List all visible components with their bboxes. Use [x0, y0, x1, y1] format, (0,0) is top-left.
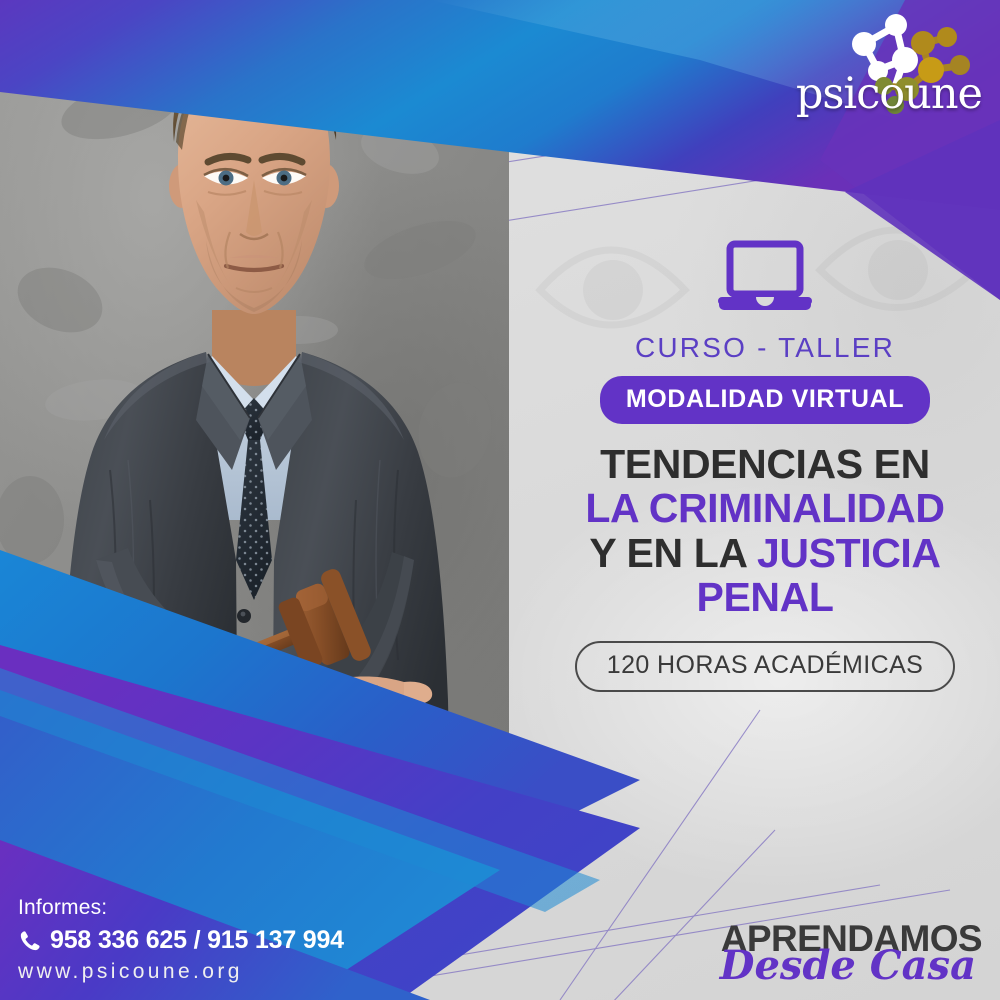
phone-numbers: 958 336 625 / 915 137 994: [50, 926, 344, 955]
poster-canvas: psicoune CURSO - TALLER MODALIDAD VIRTUA…: [0, 0, 1000, 1000]
contact-info-block: Informes: 958 336 625 / 915 137 994 www.…: [18, 896, 418, 984]
title-line-3: Y EN LA JUSTICIA: [545, 531, 985, 575]
title-line-2: LA CRIMINALIDAD: [545, 486, 985, 530]
course-type-label: CURSO - TALLER: [545, 332, 985, 364]
title-line-4: PENAL: [545, 575, 985, 619]
tagline-block: APRENDAMOS Desde Casa: [682, 920, 982, 986]
modality-badge: MODALIDAD VIRTUAL: [600, 376, 930, 424]
title-line-3-highlight: JUSTICIA: [757, 530, 941, 576]
logo-wordmark: psicoune: [792, 73, 982, 116]
laptop-icon: [716, 240, 814, 314]
phone-row[interactable]: 958 336 625 / 915 137 994: [18, 926, 418, 955]
lawyer-portrait-photo: [0, 0, 509, 790]
title-line-3-plain: Y EN LA: [589, 530, 757, 576]
phone-icon: [18, 929, 41, 952]
informes-label: Informes:: [18, 896, 418, 920]
website-url[interactable]: www.psicoune.org: [18, 960, 418, 984]
tagline-bottom: Desde Casa: [682, 946, 976, 986]
course-title: TENDENCIAS EN LA CRIMINALIDAD Y EN LA JU…: [545, 442, 985, 619]
psicoune-logo[interactable]: psicoune: [792, 8, 982, 120]
course-info-block: CURSO - TALLER MODALIDAD VIRTUAL TENDENC…: [545, 240, 985, 692]
title-line-1: TENDENCIAS EN: [545, 442, 985, 486]
academic-hours-pill: 120 HORAS ACADÉMICAS: [575, 641, 955, 692]
